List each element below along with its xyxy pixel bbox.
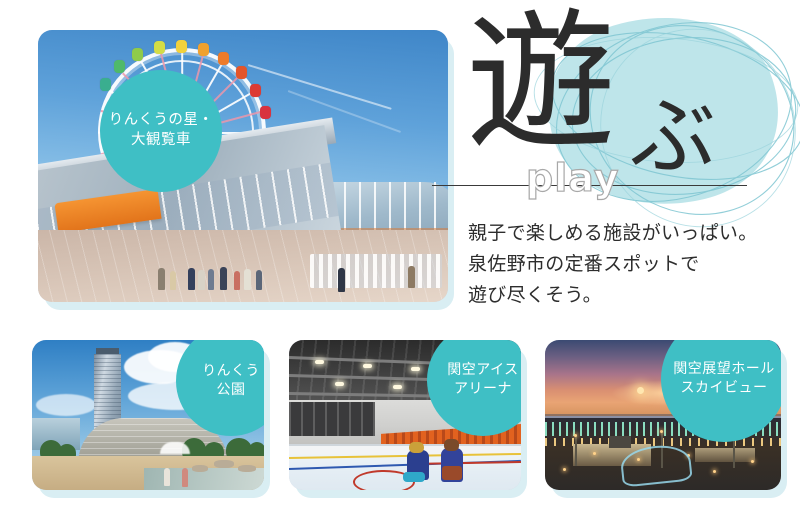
hero-label-line-1: りんくうの星・	[109, 111, 214, 131]
hero-label-line-2: 大観覧車	[131, 131, 191, 151]
sky-view-photo: 関空展望ホール スカイビュー	[545, 340, 781, 490]
headline-panel: 遊 ぶ play 親子で楽しめる施設がいっぱい。 泉佐野市の定番スポットで 遊び…	[448, 0, 800, 330]
ice-arena-label-line-1: 関空アイス	[447, 361, 518, 380]
hero-label-bubble[interactable]: りんくうの星・ 大観覧車	[100, 70, 222, 192]
sun-dot	[637, 387, 644, 394]
hangar-building	[695, 448, 755, 462]
skater-mascot-left	[407, 450, 429, 480]
skater-mascot-right	[441, 448, 463, 482]
thumbnail-card-sky-view[interactable]: 関空展望ホール スカイビュー	[545, 340, 781, 490]
sky-view-label-line-2: スカイビュー	[681, 379, 768, 398]
ice-arena-photo: 関空アイス アリーナ	[289, 340, 521, 490]
hero-photo-card[interactable]: りんくうの星・ 大観覧車	[38, 30, 448, 302]
hero-photo: りんくうの星・ 大観覧車	[38, 30, 448, 302]
headline-kanji: 遊	[466, 8, 612, 158]
description-line-2: 泉佐野市の定番スポットで	[468, 249, 798, 280]
thumbnail-card-park[interactable]: りんくう 公園	[32, 340, 264, 490]
rooftop-unit	[609, 436, 631, 448]
description-line-1: 親子で楽しめる施設がいっぱい。	[468, 218, 798, 249]
headline-romaji: play	[526, 156, 619, 200]
outdoor-chairs	[310, 254, 442, 288]
park-label-line-1: りんくう	[202, 362, 260, 381]
park-photo: りんくう 公園	[32, 340, 264, 490]
ice-arena-label-line-2: アリーナ	[454, 380, 512, 399]
headline-kana: ぶ	[630, 94, 716, 180]
play-section: りんくうの星・ 大観覧車 遊 ぶ play 親子で楽しめる施設がいっぱい。	[0, 0, 800, 515]
thumbnail-card-ice-arena[interactable]: 関空アイス アリーナ	[289, 340, 521, 490]
arena-side-windows	[289, 402, 375, 436]
description-text: 親子で楽しめる施設がいっぱい。 泉佐野市の定番スポットで 遊び尽くそう。	[468, 218, 798, 310]
park-label-line-2: 公園	[217, 381, 246, 400]
sky-view-label-line-1: 関空展望ホール	[673, 360, 775, 379]
description-line-3: 遊び尽くそう。	[468, 280, 798, 311]
